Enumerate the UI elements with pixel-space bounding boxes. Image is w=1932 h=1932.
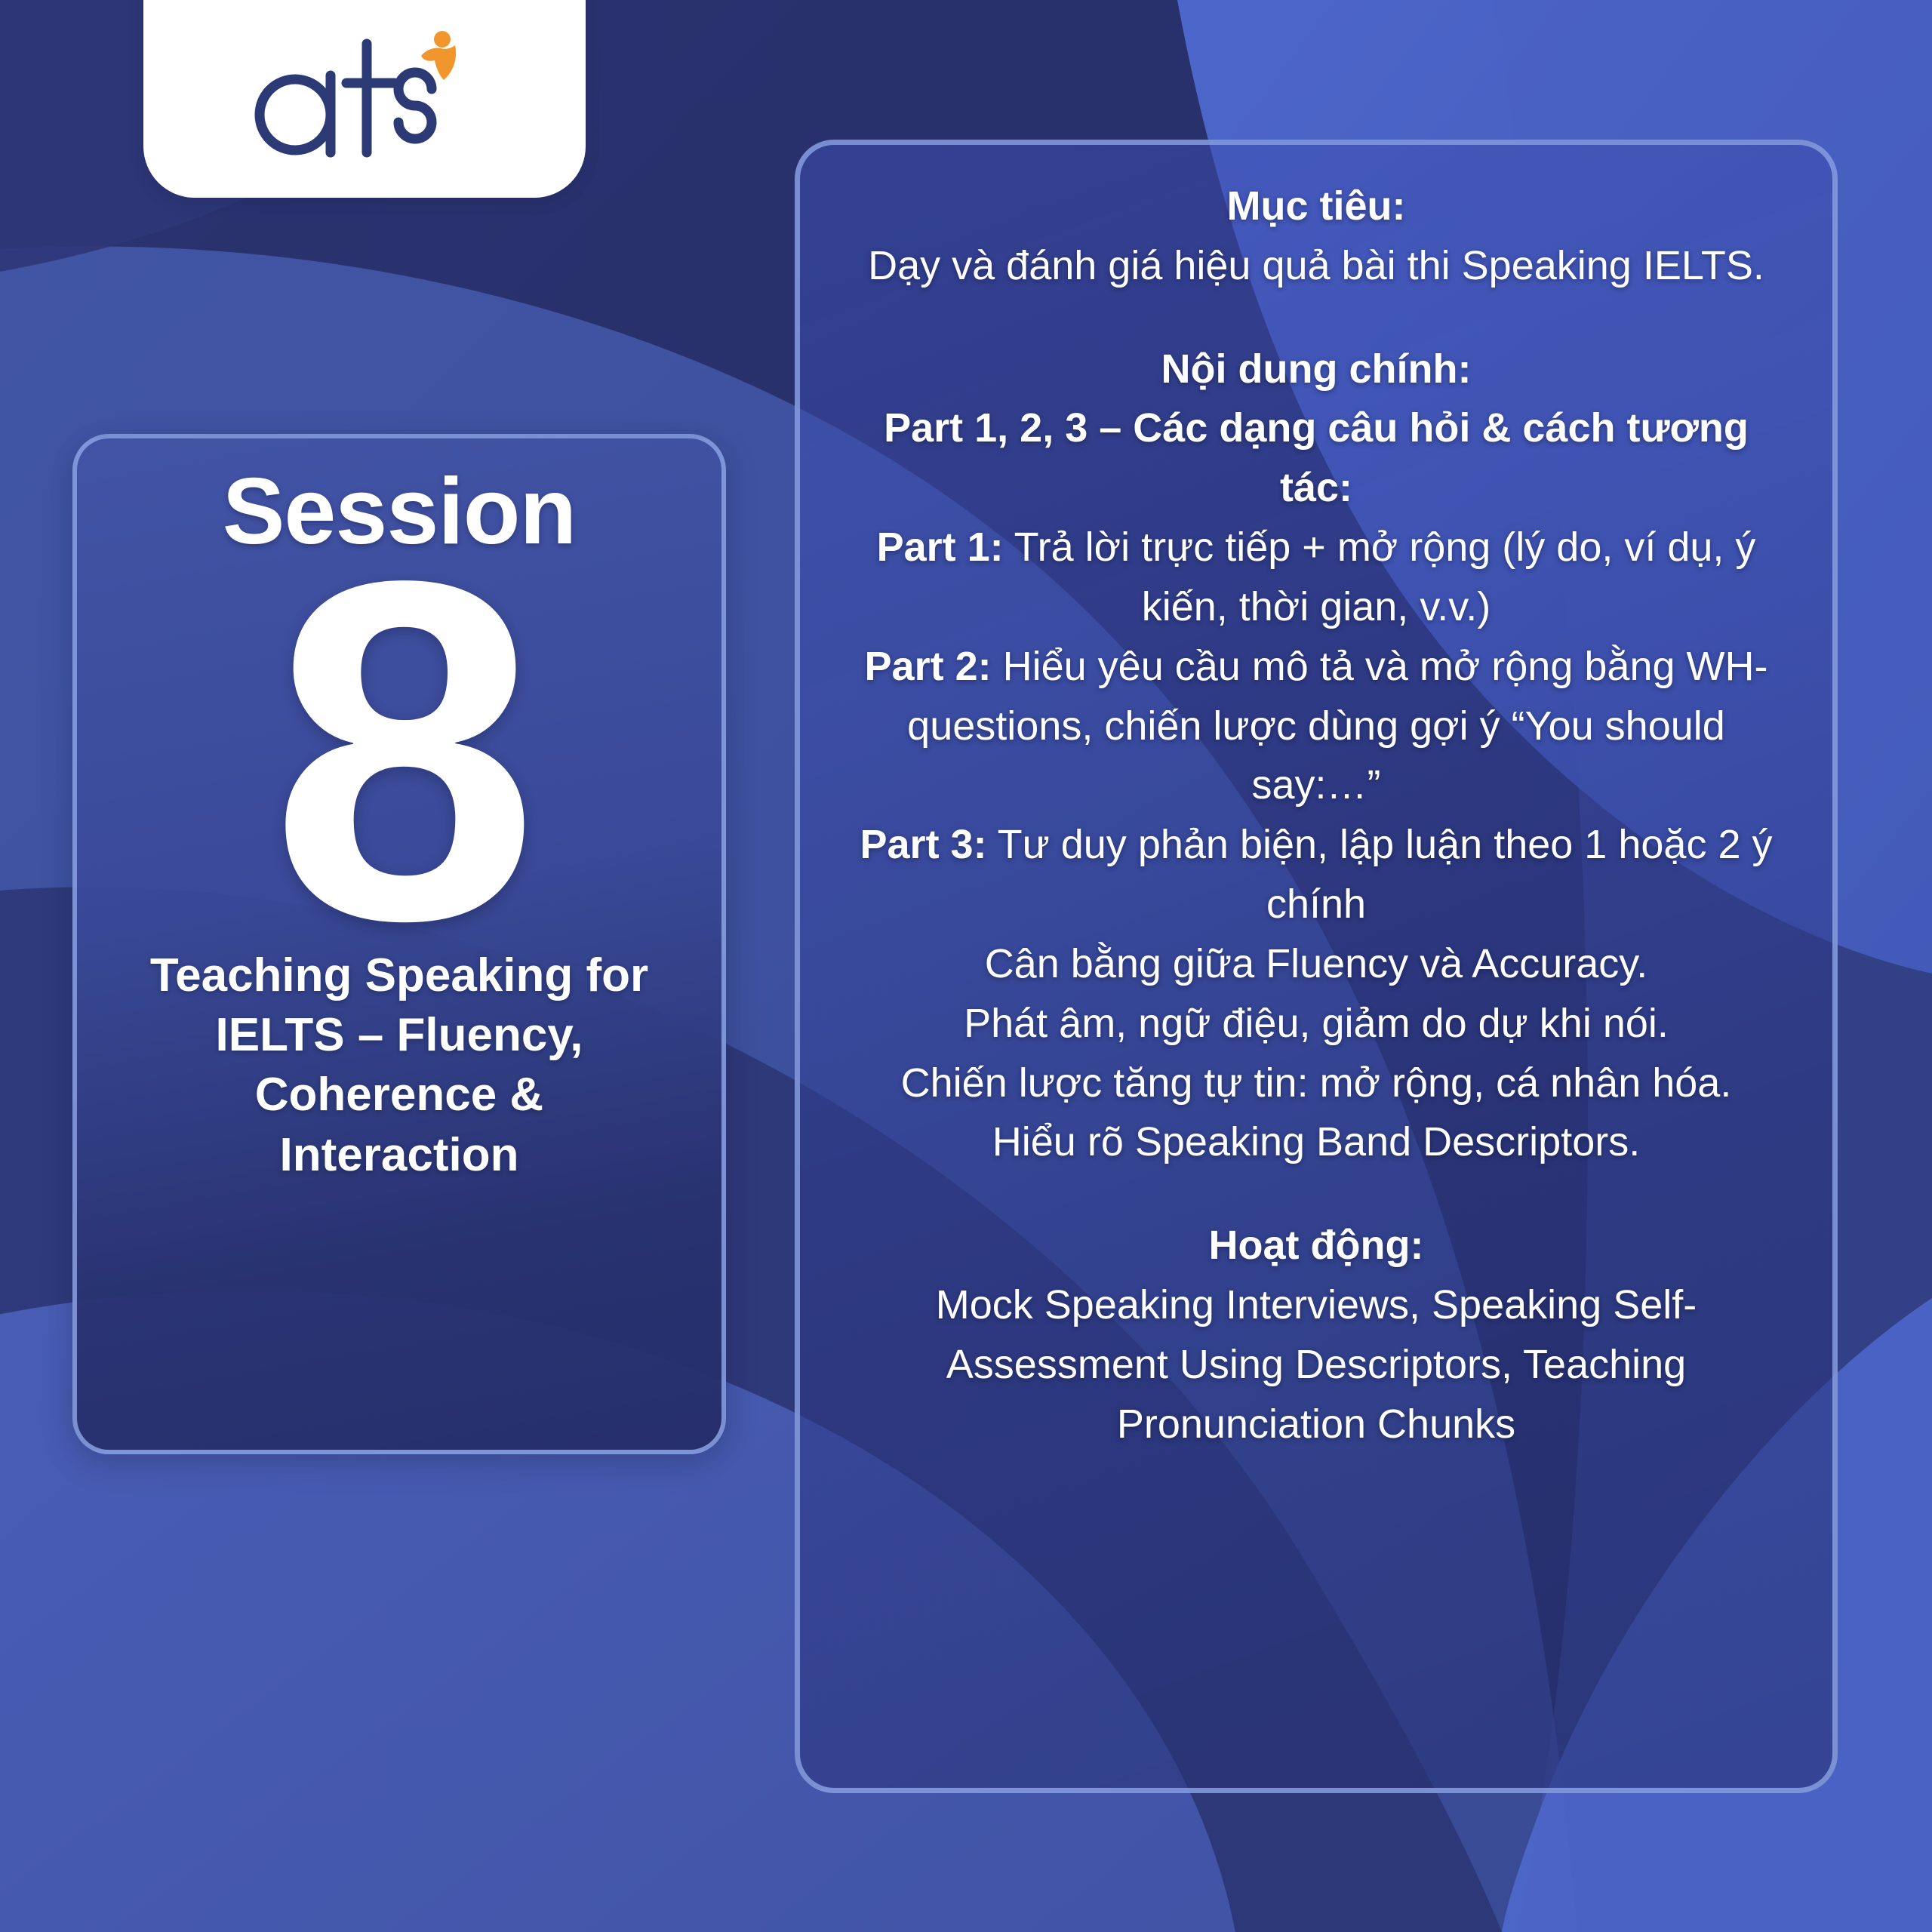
part-3-text: Tư duy phản biện, lập luận theo 1 hoặc 2… [998, 822, 1773, 927]
session-subtitle: Teaching Speaking for IELTS – Fluency, C… [135, 946, 663, 1185]
content-bullet-2: Phát âm, ngữ điệu, giảm do dự khi nói. [848, 994, 1784, 1054]
part-2-line: Part 2: Hiểu yêu cầu mô tả và mở rộng bằ… [848, 637, 1784, 815]
ats-logo-icon [240, 26, 489, 184]
part-1-line: Part 1: Trả lời trực tiếp + mở rộng (lý … [848, 518, 1784, 637]
spacer-1 [848, 296, 1784, 340]
part-3-line: Part 3: Tư duy phản biện, lập luận theo … [848, 815, 1784, 934]
part-2-text: Hiểu yêu cầu mô tả và mở rộng bằng WH-qu… [907, 644, 1767, 808]
session-number: 8 [270, 562, 528, 939]
part-2-label: Part 2: [865, 644, 992, 689]
content-card: Mục tiêu: Dạy và đánh giá hiệu quả bài t… [795, 140, 1838, 1793]
activity-heading: Hoạt động: [848, 1216, 1784, 1275]
main-content-heading: Nội dung chính: [848, 340, 1784, 399]
part-1-text: Trả lời trực tiếp + mở rộng (lý do, ví d… [1014, 525, 1756, 629]
slide-canvas: Session 8 Teaching Speaking for IELTS – … [0, 0, 1932, 1932]
objective-heading: Mục tiêu: [848, 177, 1784, 236]
figure-head [434, 31, 451, 48]
part-1-label: Part 1: [877, 525, 1004, 570]
session-card: Session 8 Teaching Speaking for IELTS – … [72, 434, 726, 1454]
content-bullet-3: Chiến lược tăng tự tin: mở rộng, cá nhân… [848, 1054, 1784, 1113]
parts-heading: Part 1, 2, 3 – Các dạng câu hỏi & cách t… [848, 398, 1784, 518]
content-bullet-4: Hiểu rõ Speaking Band Descriptors. [848, 1112, 1784, 1172]
part-3-label: Part 3: [860, 822, 987, 867]
content-bullet-1: Cân bằng giữa Fluency và Accuracy. [848, 934, 1784, 994]
content-body: Mục tiêu: Dạy và đánh giá hiệu quả bài t… [848, 177, 1784, 1454]
spacer-2 [848, 1172, 1784, 1216]
activity-text: Mock Speaking Interviews, Speaking Self-… [848, 1275, 1784, 1454]
objective-text: Dạy và đánh giá hiệu quả bài thi Speakin… [848, 236, 1784, 296]
ats-logo-badge [143, 0, 586, 198]
